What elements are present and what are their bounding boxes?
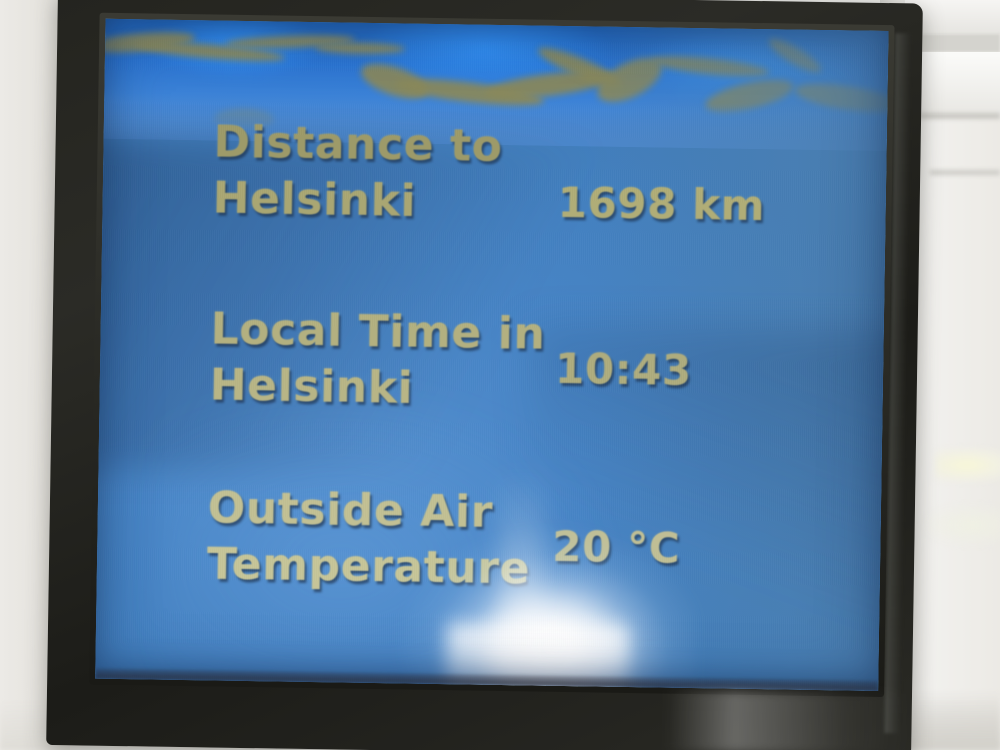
bezel-glare-highlight xyxy=(666,690,907,750)
distance-value: 1698 km xyxy=(557,178,765,230)
local-time-value: 10:43 xyxy=(555,344,692,395)
wall-seam-lower xyxy=(930,170,1000,175)
wall-mounted-monitor[interactable]: Distance to Helsinki 1698 km Local Time … xyxy=(46,0,926,750)
wall-panel-second xyxy=(912,52,1000,114)
distance-label-line2: Helsinki xyxy=(212,172,416,226)
local-time-label-line1: Local Time in xyxy=(210,303,546,359)
distance-label-line1: Distance to xyxy=(213,116,503,172)
ceiling-light-reflection xyxy=(935,448,1000,482)
local-time-label-line2: Helsinki xyxy=(209,359,413,413)
screenshot-root: Distance to Helsinki 1698 km Local Time … xyxy=(0,0,1000,750)
ceiling-light-reflection-2 xyxy=(925,505,1000,545)
monitor-screen[interactable]: Distance to Helsinki 1698 km Local Time … xyxy=(95,19,888,691)
wall-seam-upper xyxy=(920,113,1000,119)
